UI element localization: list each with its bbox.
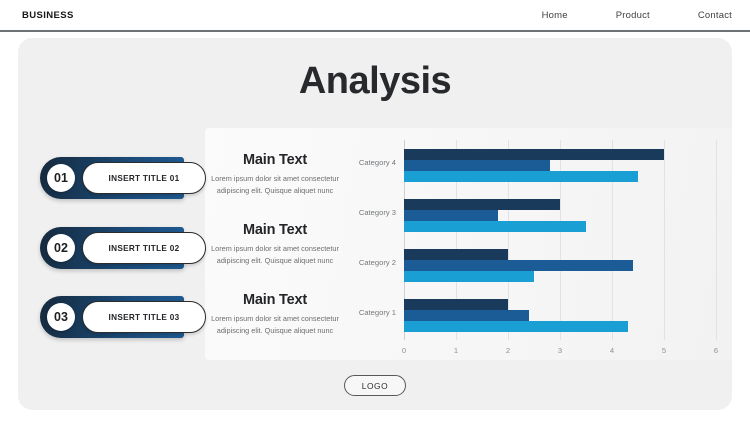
chart-x-tick-label: 0 — [402, 346, 406, 355]
text-block-3-body: Lorem ipsum dolor sit amet consectetur a… — [205, 313, 345, 337]
chart-category-label: Category 2 — [359, 258, 396, 267]
chart-bar — [404, 221, 586, 232]
badge-number-03: 03 — [47, 303, 75, 331]
top-navigation-bar: BUSINESS Home Product Contact — [0, 0, 750, 31]
chart-x-tick-label: 5 — [662, 346, 666, 355]
nav-item-contact[interactable]: Contact — [698, 10, 732, 21]
chart-gridline — [716, 140, 717, 340]
badge-title-pill-01[interactable]: INSERT TITLE 01 — [82, 162, 206, 194]
badge-title-pill-03[interactable]: INSERT TITLE 03 — [82, 301, 206, 333]
chart-bar — [404, 271, 534, 282]
badge-row-01: 01 INSERT TITLE 01 — [40, 157, 206, 199]
chart-x-tick-label: 3 — [558, 346, 562, 355]
chart-x-tick-label: 4 — [610, 346, 614, 355]
badge-number-02: 02 — [47, 234, 75, 262]
text-block-2-body: Lorem ipsum dolor sit amet consectetur a… — [205, 243, 345, 267]
chart-plot-area: Category 1Category 2Category 3Category 4… — [404, 140, 716, 340]
nav-item-product[interactable]: Product — [616, 10, 650, 21]
chart-bar — [404, 149, 664, 160]
chart-x-tick-label: 2 — [506, 346, 510, 355]
chart-category-group: Category 3 — [404, 199, 716, 232]
chart-bar — [404, 171, 638, 182]
nav-menu: Home Product Contact — [542, 10, 732, 21]
chart-x-tick-label: 1 — [454, 346, 458, 355]
chart-x-tick-label: 6 — [714, 346, 718, 355]
screenshot-root: BUSINESS Home Product Contact Analysis 0… — [0, 0, 750, 422]
text-block-2: Main Text Lorem ipsum dolor sit amet con… — [205, 222, 345, 267]
chart-category-group: Category 4 — [404, 149, 716, 182]
brand-logo: BUSINESS — [22, 10, 74, 21]
text-block-1: Main Text Lorem ipsum dolor sit amet con… — [205, 152, 345, 197]
text-block-3: Main Text Lorem ipsum dolor sit amet con… — [205, 292, 345, 337]
badge-number-01: 01 — [47, 164, 75, 192]
text-block-3-heading: Main Text — [205, 292, 345, 308]
nav-item-home[interactable]: Home — [542, 10, 568, 21]
badge-row-03: 03 INSERT TITLE 03 — [40, 296, 206, 338]
badge-row-02: 02 INSERT TITLE 02 — [40, 227, 206, 269]
chart-bar — [404, 321, 628, 332]
logo-button[interactable]: LOGO — [344, 375, 406, 396]
badge-title-pill-02[interactable]: INSERT TITLE 02 — [82, 232, 206, 264]
text-block-2-heading: Main Text — [205, 222, 345, 238]
chart-bar — [404, 260, 633, 271]
chart-bar — [404, 210, 498, 221]
chart-bar — [404, 249, 508, 260]
text-block-1-heading: Main Text — [205, 152, 345, 168]
chart-category-label: Category 3 — [359, 208, 396, 217]
text-block-1-body: Lorem ipsum dolor sit amet consectetur a… — [205, 173, 345, 197]
chart-bar — [404, 160, 550, 171]
chart-category-group: Category 1 — [404, 299, 716, 332]
chart-bar — [404, 299, 508, 310]
chart-bar — [404, 199, 560, 210]
chart-category-label: Category 1 — [359, 308, 396, 317]
chart-category-group: Category 2 — [404, 249, 716, 282]
chart-category-label: Category 4 — [359, 158, 396, 167]
bar-chart: Category 1Category 2Category 3Category 4… — [348, 134, 732, 360]
page-title: Analysis — [0, 60, 750, 103]
header-divider — [0, 30, 750, 32]
chart-bar — [404, 310, 529, 321]
